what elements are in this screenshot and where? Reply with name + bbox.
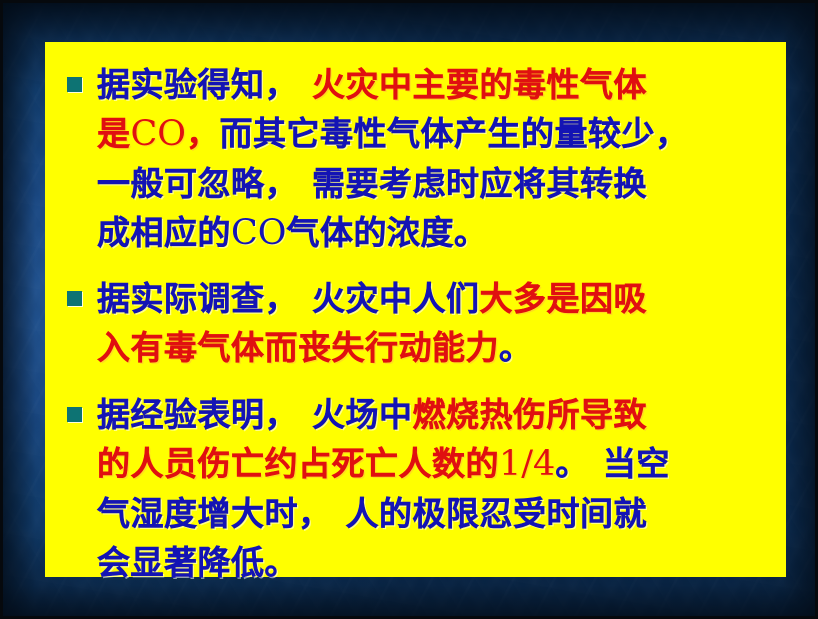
text-run: 。 (499, 328, 533, 367)
bullet-line: 据实验得知，火灾中主要的毒性气体 (97, 60, 774, 109)
text-run: 大多是因吸 (480, 279, 648, 318)
bullet-line: 据经验表明，火场中燃烧热伤所导致 (97, 390, 774, 439)
square-bullet-icon (67, 291, 82, 306)
text-run-serif: 1/4 (499, 444, 555, 484)
content-panel: 据实验得知，火灾中主要的毒性气体 是CO，而其它毒性气体产生的量较少， 一般可忽… (45, 42, 786, 577)
text-run: 气湿度增大时， (97, 494, 332, 533)
presentation-slide: 据实验得知，火灾中主要的毒性气体 是CO，而其它毒性气体产生的量较少， 一般可忽… (0, 0, 818, 619)
text-run: 人的极限忍受时间就 (346, 494, 648, 533)
text-run: 当空 (603, 444, 670, 483)
text-run: 据经验表明， (97, 395, 298, 434)
text-run: 而其它毒性气体产生的量较少， (219, 114, 688, 153)
text-run: 气体的浓度。 (286, 213, 487, 252)
text-run: 。 (555, 444, 589, 483)
text-run: 会显著降低。 (97, 543, 298, 582)
text-run: 据实际调查， (97, 279, 298, 318)
text-run: 是 (97, 114, 131, 153)
square-bullet-icon (67, 407, 82, 422)
text-run: 据实验得知， (97, 65, 298, 104)
text-run-serif: CO (131, 114, 186, 154)
bullet-line: 入有毒气体而丧失行动能力。 (97, 323, 774, 372)
text-run: 一般可忽略， (97, 164, 298, 203)
text-run: 火灾中主要的毒性气体 (312, 65, 647, 104)
bullet-item: 据经验表明，火场中燃烧热伤所导致 的人员伤亡约占死亡人数的1/4。当空 气湿度增… (57, 390, 774, 587)
bullet-line: 一般可忽略，需要考虑时应将其转换 (97, 159, 774, 208)
bullet-item: 据实际调查，火灾中人们大多是因吸 入有毒气体而丧失行动能力。 (57, 274, 774, 372)
text-run: 的人员伤亡约占死亡人数的 (97, 444, 499, 483)
square-bullet-icon (67, 77, 82, 92)
bullet-line: 的人员伤亡约占死亡人数的1/4。当空 (97, 439, 774, 489)
text-run: 需要考虑时应将其转换 (312, 164, 647, 203)
text-run: 入有毒气体而丧失行动能力 (97, 328, 499, 367)
text-run-serif: CO (231, 213, 286, 253)
text-run: 燃烧热伤所导致 (413, 395, 648, 434)
bullet-line: 会显著降低。 (97, 538, 774, 587)
bullet-item: 据实验得知，火灾中主要的毒性气体 是CO，而其它毒性气体产生的量较少， 一般可忽… (57, 60, 774, 258)
text-run: ， (186, 114, 220, 153)
text-run: 火场中 (312, 395, 413, 434)
bullet-line: 成相应的CO气体的浓度。 (97, 208, 774, 258)
bullet-line: 据实际调查，火灾中人们大多是因吸 (97, 274, 774, 323)
text-run: 火灾中人们 (312, 279, 480, 318)
bullet-line: 是CO，而其它毒性气体产生的量较少， (97, 109, 774, 159)
bullet-line: 气湿度增大时，人的极限忍受时间就 (97, 489, 774, 538)
text-run: 成相应的 (97, 213, 231, 252)
